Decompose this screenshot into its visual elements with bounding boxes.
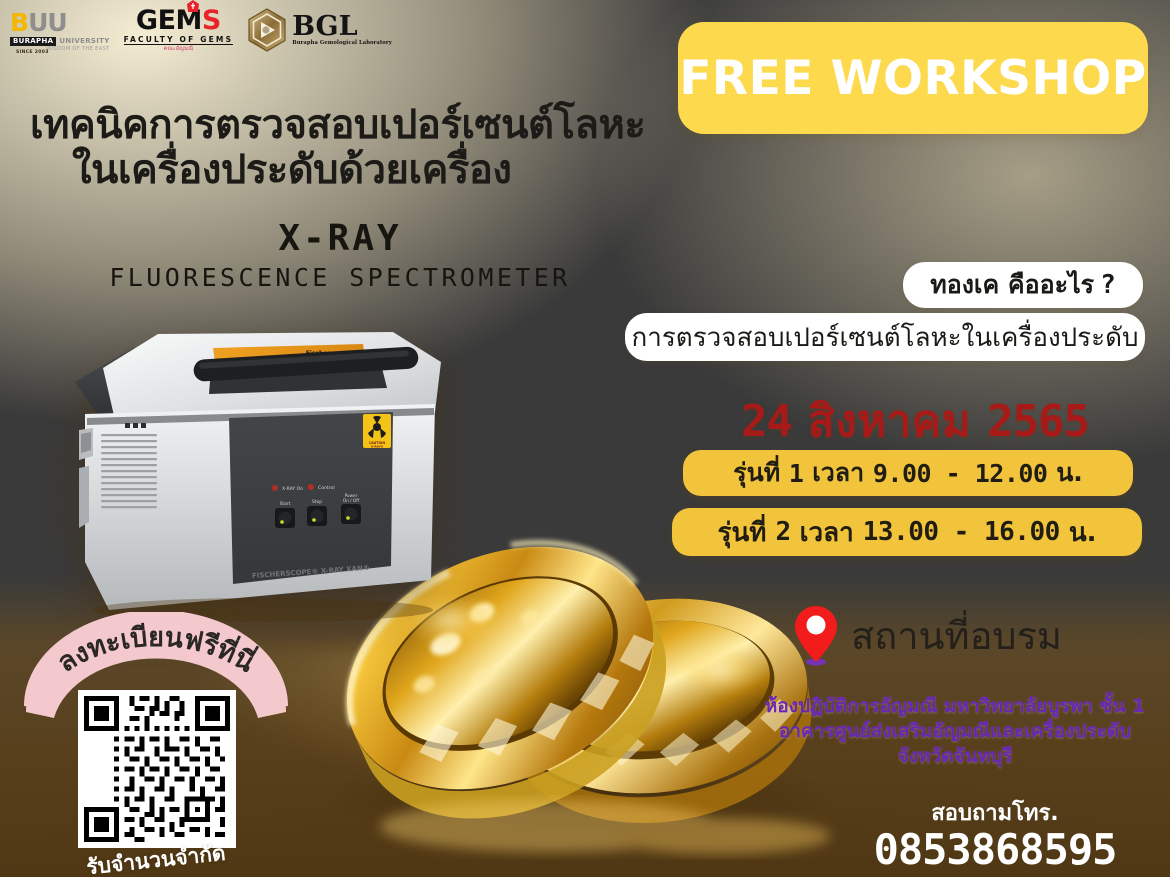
xrf-instrument-image: Fischer (63, 322, 468, 622)
venue-address-line-3: จังหวัดจันทบุรี (740, 744, 1170, 769)
free-workshop-badge: FREE WORKSHOP (678, 22, 1148, 134)
map-pin-icon (793, 604, 839, 666)
bgl-mark: BGL (292, 13, 392, 40)
contact-phone-number[interactable]: 0853868595 (820, 825, 1170, 874)
session-2-label: รุ่นที่ (718, 512, 767, 553)
session-1-unit: น. (1056, 453, 1083, 493)
gems-subtitle: FACULTY OF GEMS (124, 36, 234, 46)
topic-question-text: ทองเค คืออะไร (930, 265, 1094, 305)
partner-logos: BUU BURAPHA UNIVERSITY WISDOM OF THE EAS… (10, 6, 392, 52)
session-2-time-label: เวลา (800, 512, 854, 553)
bgl-since: SINCE 2003 (16, 50, 49, 55)
session-1-label: รุ่นที่ (733, 453, 780, 493)
event-date-day: 24 (741, 396, 792, 447)
buu-letter-u1: U (28, 8, 47, 37)
headline-line-1: เทคนิคการตรวจสอบเปอร์เซนต์โลหะ (30, 104, 690, 147)
logo-bgl: BGL Burapha Gemological Laboratory SINCE… (247, 8, 392, 52)
svg-text:X-RAY On: X-RAY On (282, 486, 303, 492)
event-date: 24 สิงหาคม 2565 (700, 386, 1130, 456)
session-1-pill: รุ่นที่ 1 เวลา 9.00 - 12.00 น. (683, 450, 1133, 496)
svg-text:On / Off: On / Off (343, 498, 359, 503)
event-date-year: 2565 (987, 396, 1089, 447)
headline-block: เทคนิคการตรวจสอบเปอร์เซนต์โลหะ ในเครื่อง… (30, 104, 690, 192)
buu-tagline: WISDOM OF THE EAST (46, 47, 109, 52)
svg-text:Start: Start (280, 501, 291, 507)
svg-text:Stop: Stop (312, 499, 322, 505)
free-workshop-label: FREE WORKSHOP (679, 51, 1146, 106)
xray-title: X-RAY (30, 218, 650, 259)
xray-subtitle-block: X-RAY FLUORESCENCE SPECTROMETER (30, 218, 650, 292)
event-date-month: สิงหาคม (808, 396, 972, 447)
registration-block: ลงทะเบียนฟรีที่นี่ (22, 612, 290, 874)
topic-description-text: การตรวจสอบเปอร์เซนต์โลหะในเครื่องประดับ (632, 317, 1139, 358)
session-1-number: 1 (789, 459, 804, 488)
buu-letter-u2: U (47, 8, 66, 37)
buu-mark: BUU (10, 10, 67, 35)
buu-name: BURAPHA (10, 37, 56, 46)
session-2-unit: น. (1069, 512, 1097, 553)
workshop-poster: Fischer (0, 0, 1170, 877)
question-mark-icon: ? (1100, 270, 1116, 300)
logo-burapha-university: BUU BURAPHA UNIVERSITY WISDOM OF THE EAS… (10, 10, 110, 52)
crown-icon (186, 0, 200, 13)
venue-heading-row: สถานที่อบรม (793, 604, 1062, 666)
venue-address-line-1: ห้องปฏิบัติการอัญมณี มหาวิทยาลัยบูรพา ชั… (740, 694, 1170, 719)
venue-heading: สถานที่อบรม (851, 605, 1062, 666)
xray-subtitle: FLUORESCENCE SPECTROMETER (30, 263, 650, 292)
session-2-number: 2 (775, 517, 790, 547)
gems-mark: GEMS (136, 7, 221, 34)
gems-thai: คณะอัญมณี (163, 47, 193, 53)
venue-address: ห้องปฏิบัติการอัญมณี มหาวิทยาลัยบูรพา ชั… (740, 694, 1170, 769)
session-1-time: 9.00 - 12.00 (873, 459, 1048, 488)
hexagon-gem-icon (247, 8, 287, 52)
buu-name2: UNIVERSITY (59, 37, 109, 46)
session-1-time-label: เวลา (812, 453, 864, 493)
svg-text:Control: Control (318, 485, 335, 491)
venue-address-line-2: อาคารศูนย์ส่งเสริมอัญมณีและเครื่องประดับ (740, 719, 1170, 744)
svg-text:X-RAYS: X-RAYS (371, 444, 383, 448)
topic-question-pill: ทองเค คืออะไร ? (903, 262, 1143, 308)
registration-qr-code[interactable] (78, 690, 236, 848)
logo-faculty-of-gems: GEMS FACULTY OF GEMS คณะอัญมณี (124, 7, 234, 53)
gems-mark-right: S (202, 5, 221, 36)
topic-description-pill: การตรวจสอบเปอร์เซนต์โลหะในเครื่องประดับ (625, 313, 1145, 361)
bgl-subtitle: Burapha Gemological Laboratory (292, 41, 392, 46)
session-2-time: 13.00 - 16.00 (863, 517, 1060, 547)
headline-line-2: ในเครื่องประดับด้วยเครื่อง (30, 149, 690, 192)
buu-letter-b: B (10, 8, 28, 37)
session-2-pill: รุ่นที่ 2 เวลา 13.00 - 16.00 น. (672, 508, 1142, 556)
